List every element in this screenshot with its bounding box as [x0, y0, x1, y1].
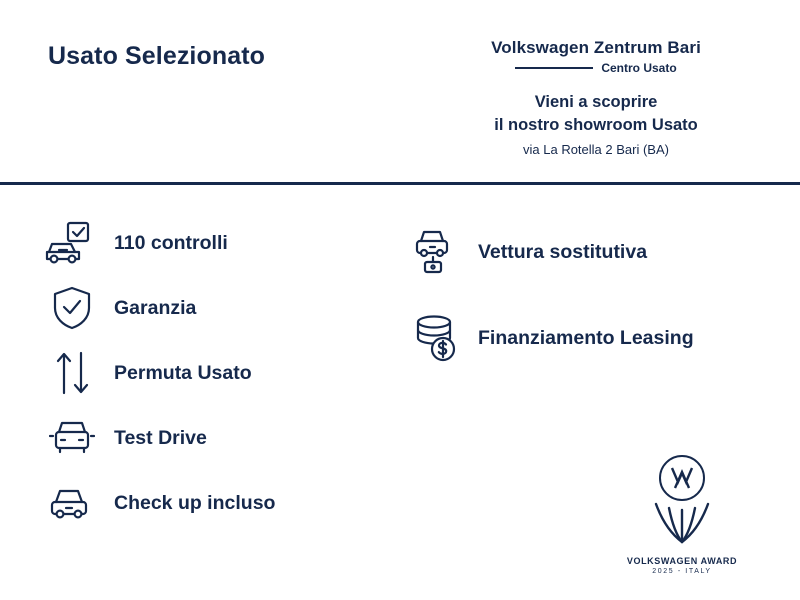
- feature-item: 110 controlli: [44, 212, 275, 274]
- brand-subtitle-row: Centro Usato: [436, 61, 756, 75]
- brand-rule-left: [515, 67, 593, 69]
- brand-subtitle: Centro Usato: [601, 61, 676, 75]
- shield-check-icon: [44, 282, 100, 334]
- award-subtitle: 2025 - ITALY: [616, 568, 748, 575]
- volkswagen-logo-icon: [616, 452, 748, 556]
- award-title: VOLKSWAGEN AWARD: [616, 556, 748, 566]
- coins-dollar-icon: [408, 312, 464, 364]
- promo-address: via La Rotella 2 Bari (BA): [436, 142, 756, 157]
- feature-item: Garanzia: [44, 277, 275, 339]
- feature-label: Check up incluso: [114, 492, 275, 515]
- feature-label: Garanzia: [114, 297, 196, 320]
- promo-line-1: Vieni a scoprire: [436, 91, 756, 114]
- promo-line-2: il nostro showroom Usato: [436, 114, 756, 137]
- arrows-up-down-icon: [44, 347, 100, 399]
- promo-block: Vieni a scoprire il nostro showroom Usat…: [436, 91, 756, 157]
- feature-label: Test Drive: [114, 427, 207, 450]
- feature-item: Finanziamento Leasing: [408, 298, 694, 378]
- car-front-test-drive-icon: [44, 412, 100, 464]
- promo-page: Usato Selezionato Volkswagen Zentrum Bar…: [0, 0, 800, 600]
- brand-block: Volkswagen Zentrum Bari Centro Usato Vie…: [436, 38, 756, 157]
- page-title: Usato Selezionato: [48, 42, 265, 71]
- features-column-left: 110 controlli Garanzia: [44, 212, 275, 537]
- brand-name: Volkswagen Zentrum Bari: [436, 38, 756, 58]
- page-header: Usato Selezionato Volkswagen Zentrum Bar…: [0, 0, 800, 185]
- feature-label: Finanziamento Leasing: [478, 327, 694, 350]
- feature-label: Permuta Usato: [114, 362, 252, 385]
- car-checkup-icon: [44, 477, 100, 529]
- feature-label: 110 controlli: [114, 232, 228, 255]
- feature-item: Permuta Usato: [44, 342, 275, 404]
- feature-item: Test Drive: [44, 407, 275, 469]
- feature-label: Vettura sostitutiva: [478, 241, 647, 264]
- feature-item: Check up incluso: [44, 472, 275, 534]
- feature-item: Vettura sostitutiva: [408, 212, 694, 292]
- replacement-car-icon: [408, 226, 464, 278]
- car-check-icon: [44, 217, 100, 269]
- features-column-right: Vettura sostitutiva F: [408, 212, 694, 384]
- award-badge: VOLKSWAGEN AWARD 2025 - ITALY: [616, 452, 748, 580]
